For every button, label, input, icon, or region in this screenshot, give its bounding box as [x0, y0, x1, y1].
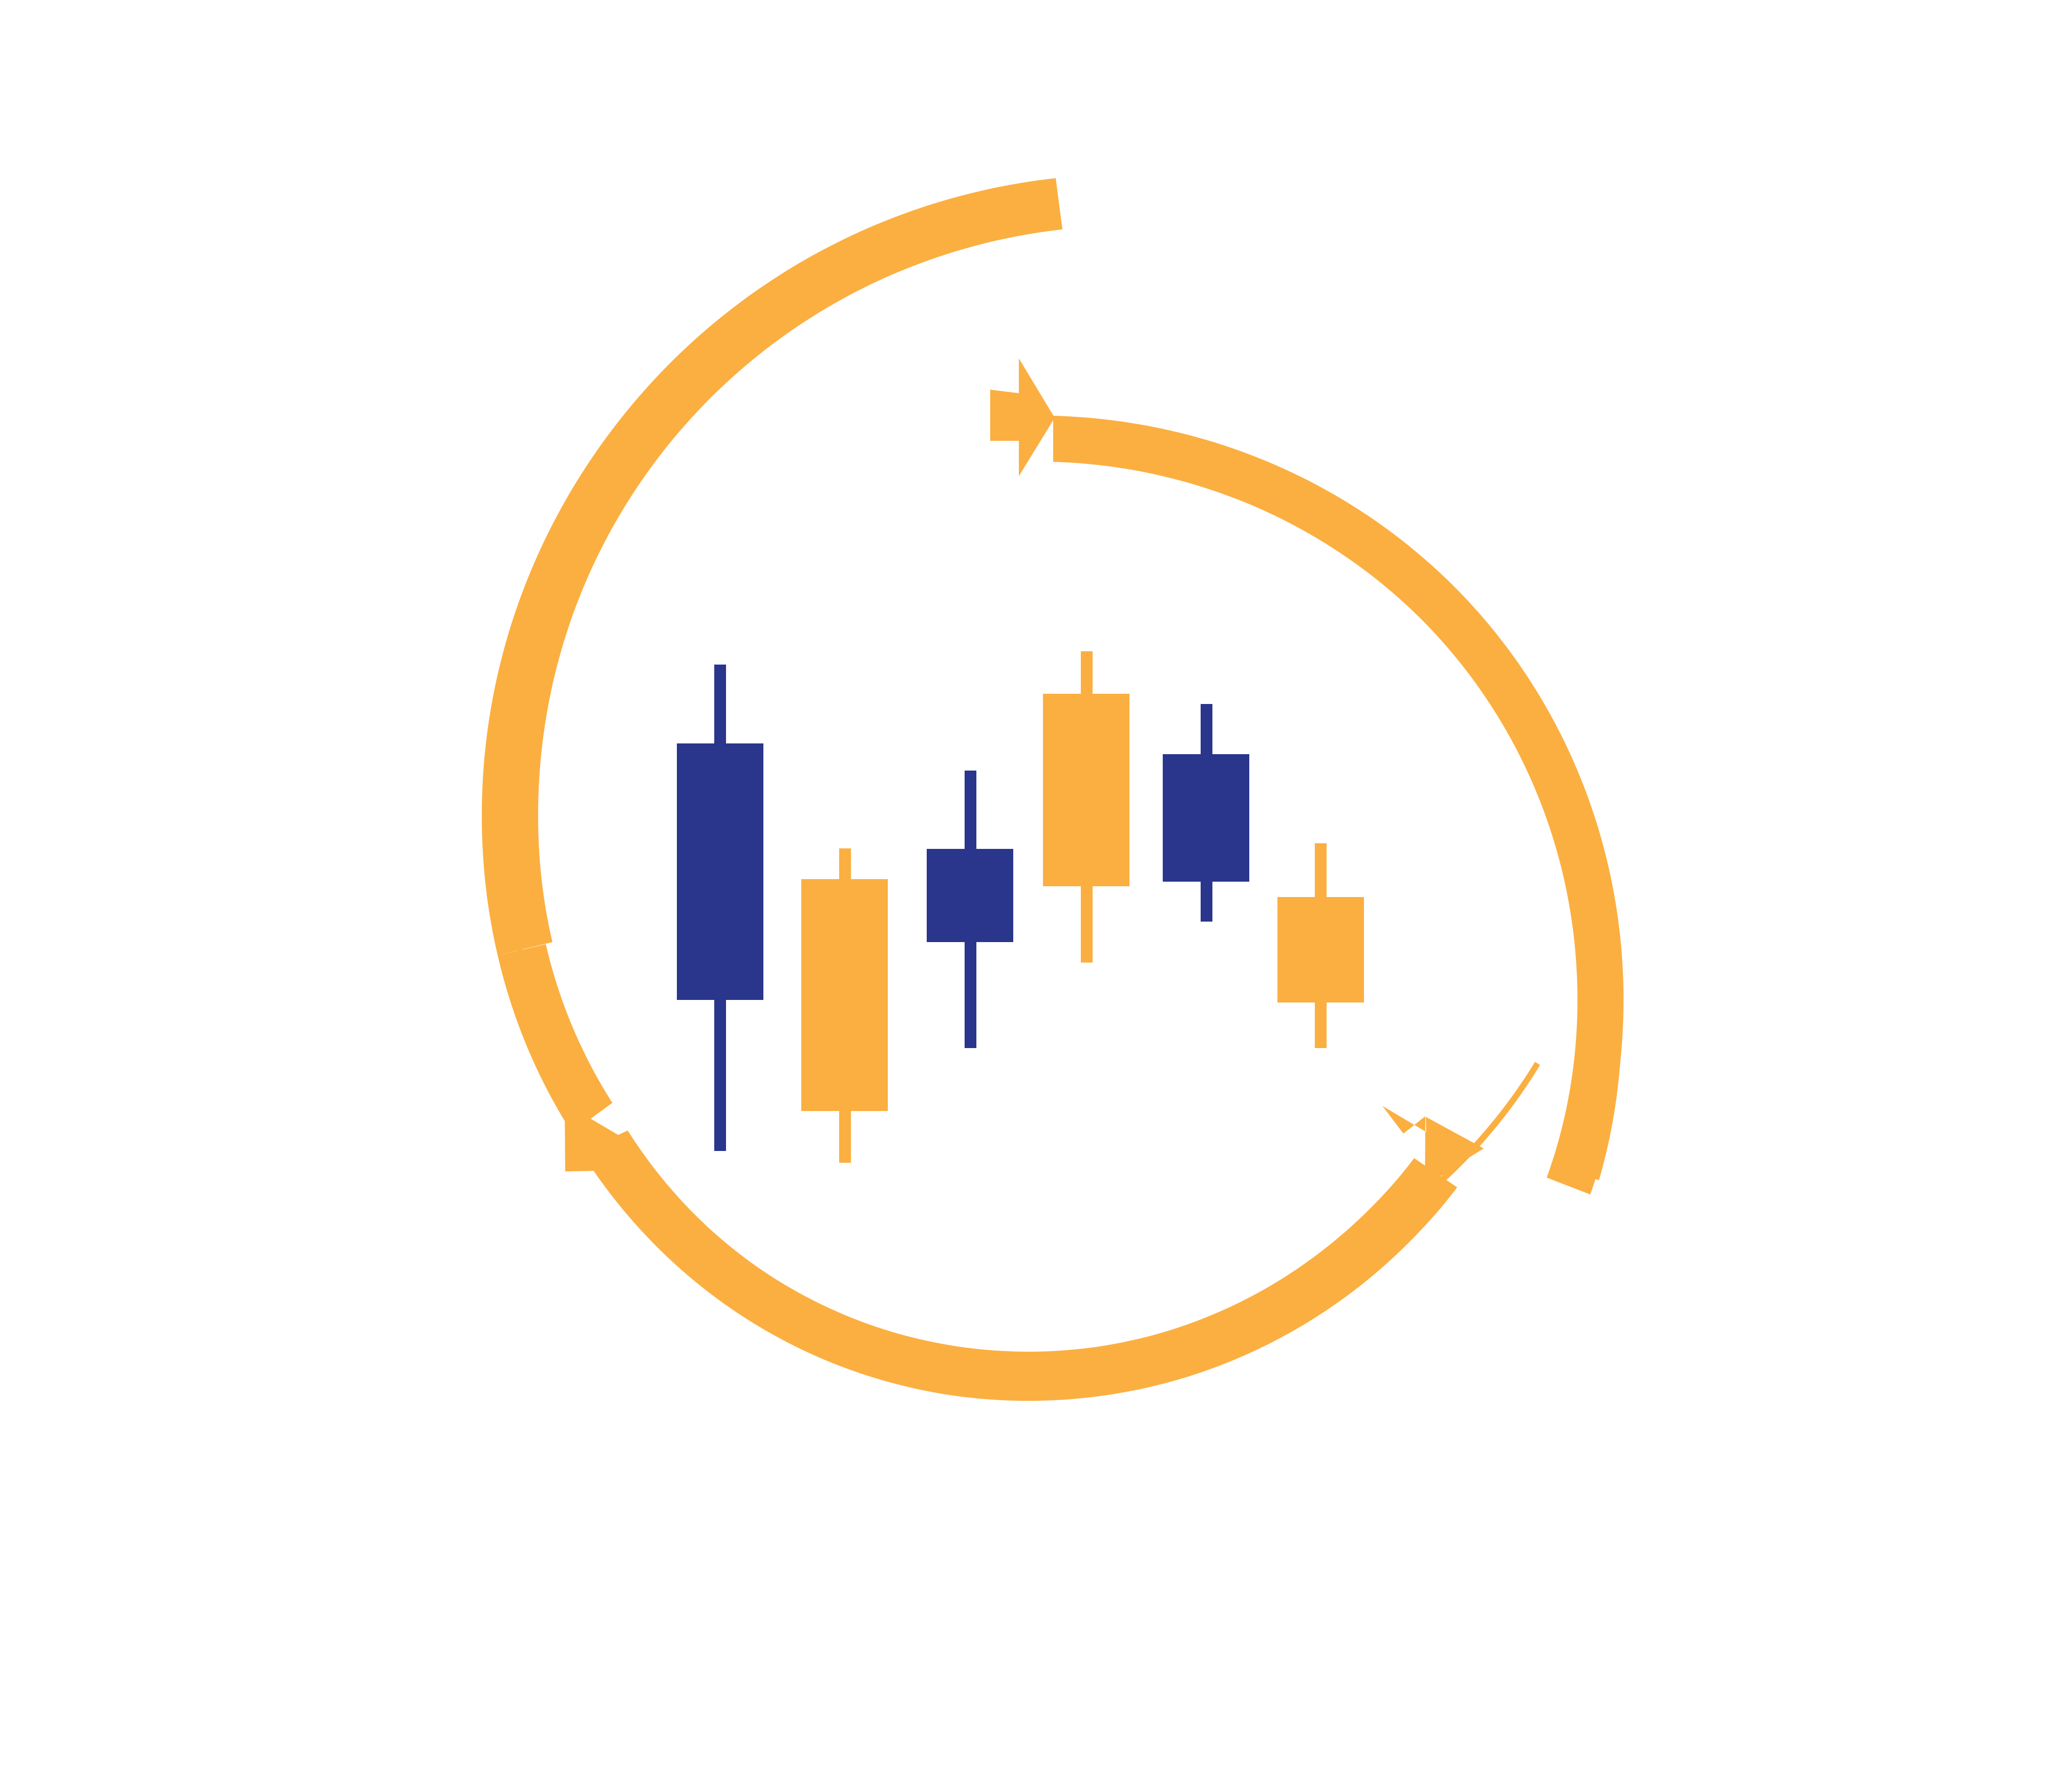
candle-4-body: [1043, 694, 1129, 886]
background-rect: [0, 0, 2048, 1792]
trading-cycle-icon: [0, 0, 2048, 1792]
candle-1-body: [677, 743, 763, 1000]
icon-canvas: [0, 0, 2048, 1792]
candle-5-body: [1163, 754, 1249, 882]
candle-2-body: [801, 879, 888, 1111]
candle-6-body: [1277, 897, 1364, 1002]
candle-3-body: [927, 849, 1013, 942]
